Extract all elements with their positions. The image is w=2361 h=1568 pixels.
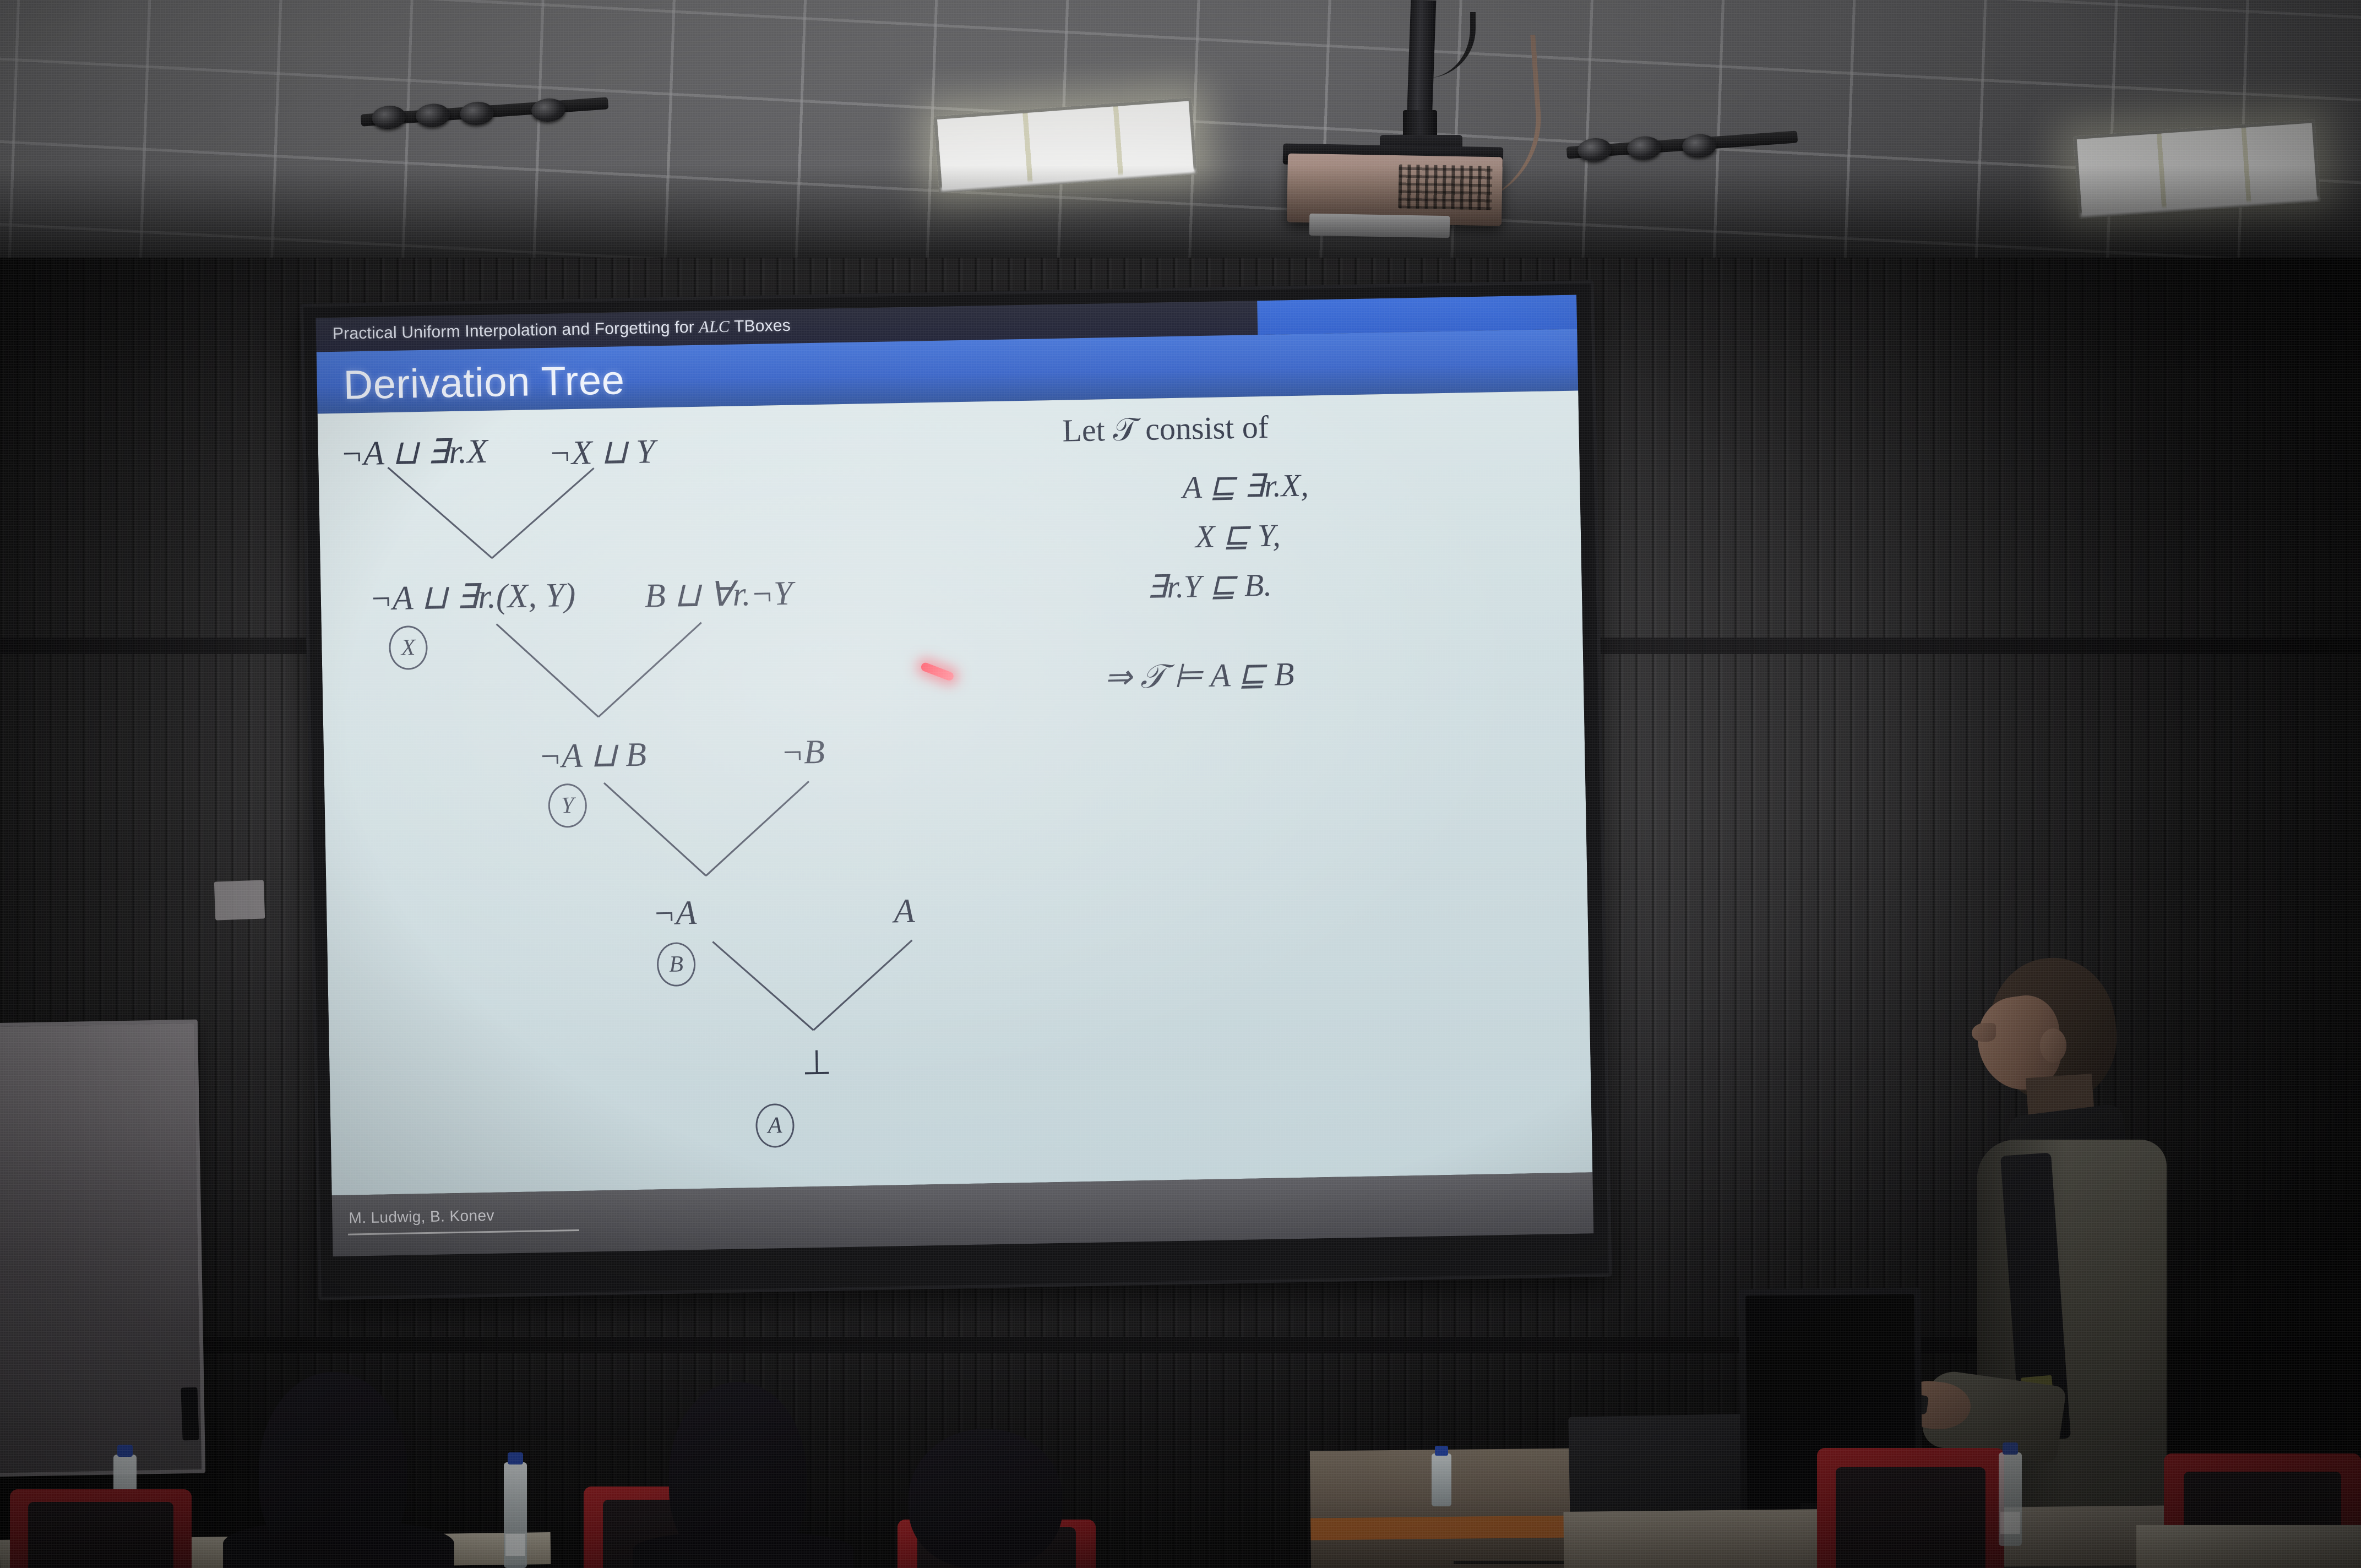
chair: [10, 1489, 192, 1568]
tree-node-n6: ¬B: [780, 733, 825, 772]
bottle-cap: [1435, 1446, 1448, 1456]
tree-node-n5: ¬A ⊔ B: [538, 734, 646, 777]
projection-screen: Practical Uniform Interpolation and Forg…: [300, 280, 1612, 1300]
presentation-photo-scene: Practical Uniform Interpolation and Forg…: [0, 0, 2361, 1568]
bottle-label: [505, 1534, 525, 1556]
presenter-ear: [2040, 1028, 2066, 1063]
chair: [1817, 1448, 2004, 1568]
tree-node-n1: ¬A ⊔ ∃r.X: [340, 431, 488, 474]
desk-water-bottle: [1432, 1453, 1451, 1506]
tree-node-n7: ¬A: [652, 894, 697, 933]
audience-head: [909, 1429, 1063, 1568]
edge-n6-n7: [704, 781, 810, 875]
tbox-axiom-3: ∃r.Y ⊑ B.: [1146, 566, 1272, 606]
laser-pointer-dot: [920, 661, 955, 682]
tree-node-n4: B ⊔ ∀r.¬Y: [644, 573, 793, 616]
edge-n8-n9: [812, 940, 913, 1030]
running-title-calligraphic: ALC: [699, 318, 730, 336]
ceiling: [0, 0, 2361, 275]
derivation-tree-edges: [318, 390, 1593, 1195]
running-title-head: Practical Uniform Interpolation and Forg…: [333, 318, 699, 343]
tree-node-n3: ¬A ⊔ ∃r.(X, Y): [369, 574, 576, 619]
bottle-cap: [508, 1452, 523, 1464]
tree-node-n8: A: [894, 892, 915, 932]
audience-head: [669, 1382, 807, 1568]
tree-node-n2: ¬X ⊔ Y: [548, 431, 655, 473]
bottle-cap: [2003, 1442, 2018, 1455]
tree-annotation-n9: A: [755, 1103, 795, 1148]
tree-annotation-n5: Y: [548, 783, 587, 828]
water-bottle: [504, 1462, 527, 1568]
edge-n7-n9: [712, 940, 813, 1032]
tree-node-n9: ⊥: [802, 1042, 832, 1084]
edge-n3-n5: [497, 622, 599, 718]
edge-n1-n3: [388, 466, 492, 560]
tree-annotation-n3: X: [389, 625, 428, 670]
running-title-tail: TBoxes: [730, 317, 791, 336]
slide-header-accent: [1257, 295, 1577, 335]
presentation-slide: Practical Uniform Interpolation and Forg…: [315, 295, 1593, 1257]
chair-back-inner: [1836, 1467, 1985, 1568]
tbox-axiom-2: X ⊑ Y,: [1195, 516, 1281, 555]
whiteboard-marker: [181, 1387, 199, 1441]
whiteboard: [0, 1020, 205, 1477]
slide-title: Derivation Tree: [343, 356, 625, 408]
bottle-label: [2000, 1512, 2020, 1534]
footer-underline: [348, 1229, 579, 1235]
presenter-nose: [1972, 1023, 1996, 1042]
tbox-axiom-1: A ⊑ ∃r.X,: [1182, 466, 1309, 505]
tbox-intro: Let 𝒯 consist of: [1062, 409, 1269, 450]
tree-annotation-n7: B: [656, 942, 695, 987]
audience-head: [259, 1372, 407, 1568]
slide-running-title: Practical Uniform Interpolation and Forg…: [333, 317, 791, 344]
edge-n5-n7: [604, 781, 706, 878]
edge-n2-n3: [491, 468, 596, 558]
wall-plate: [214, 880, 265, 920]
whiteboard-sheen: [0, 1023, 202, 1473]
tbox-conclusion: ⇒ 𝒯 ⊨ A ⊑ B: [1104, 655, 1294, 696]
bottle-cap: [117, 1445, 133, 1457]
chair-back-inner: [28, 1502, 173, 1568]
audience-table: [2136, 1525, 2361, 1568]
slide-author-credit: M. Ludwig, B. Konev: [349, 1207, 494, 1227]
water-bottle: [1999, 1452, 2022, 1546]
slide-body: ¬A ⊔ ∃r.X ¬X ⊔ Y ¬A ⊔ ∃r.(X, Y) X B ⊔ ∀r…: [318, 390, 1593, 1195]
edge-n4-n5: [597, 623, 703, 717]
